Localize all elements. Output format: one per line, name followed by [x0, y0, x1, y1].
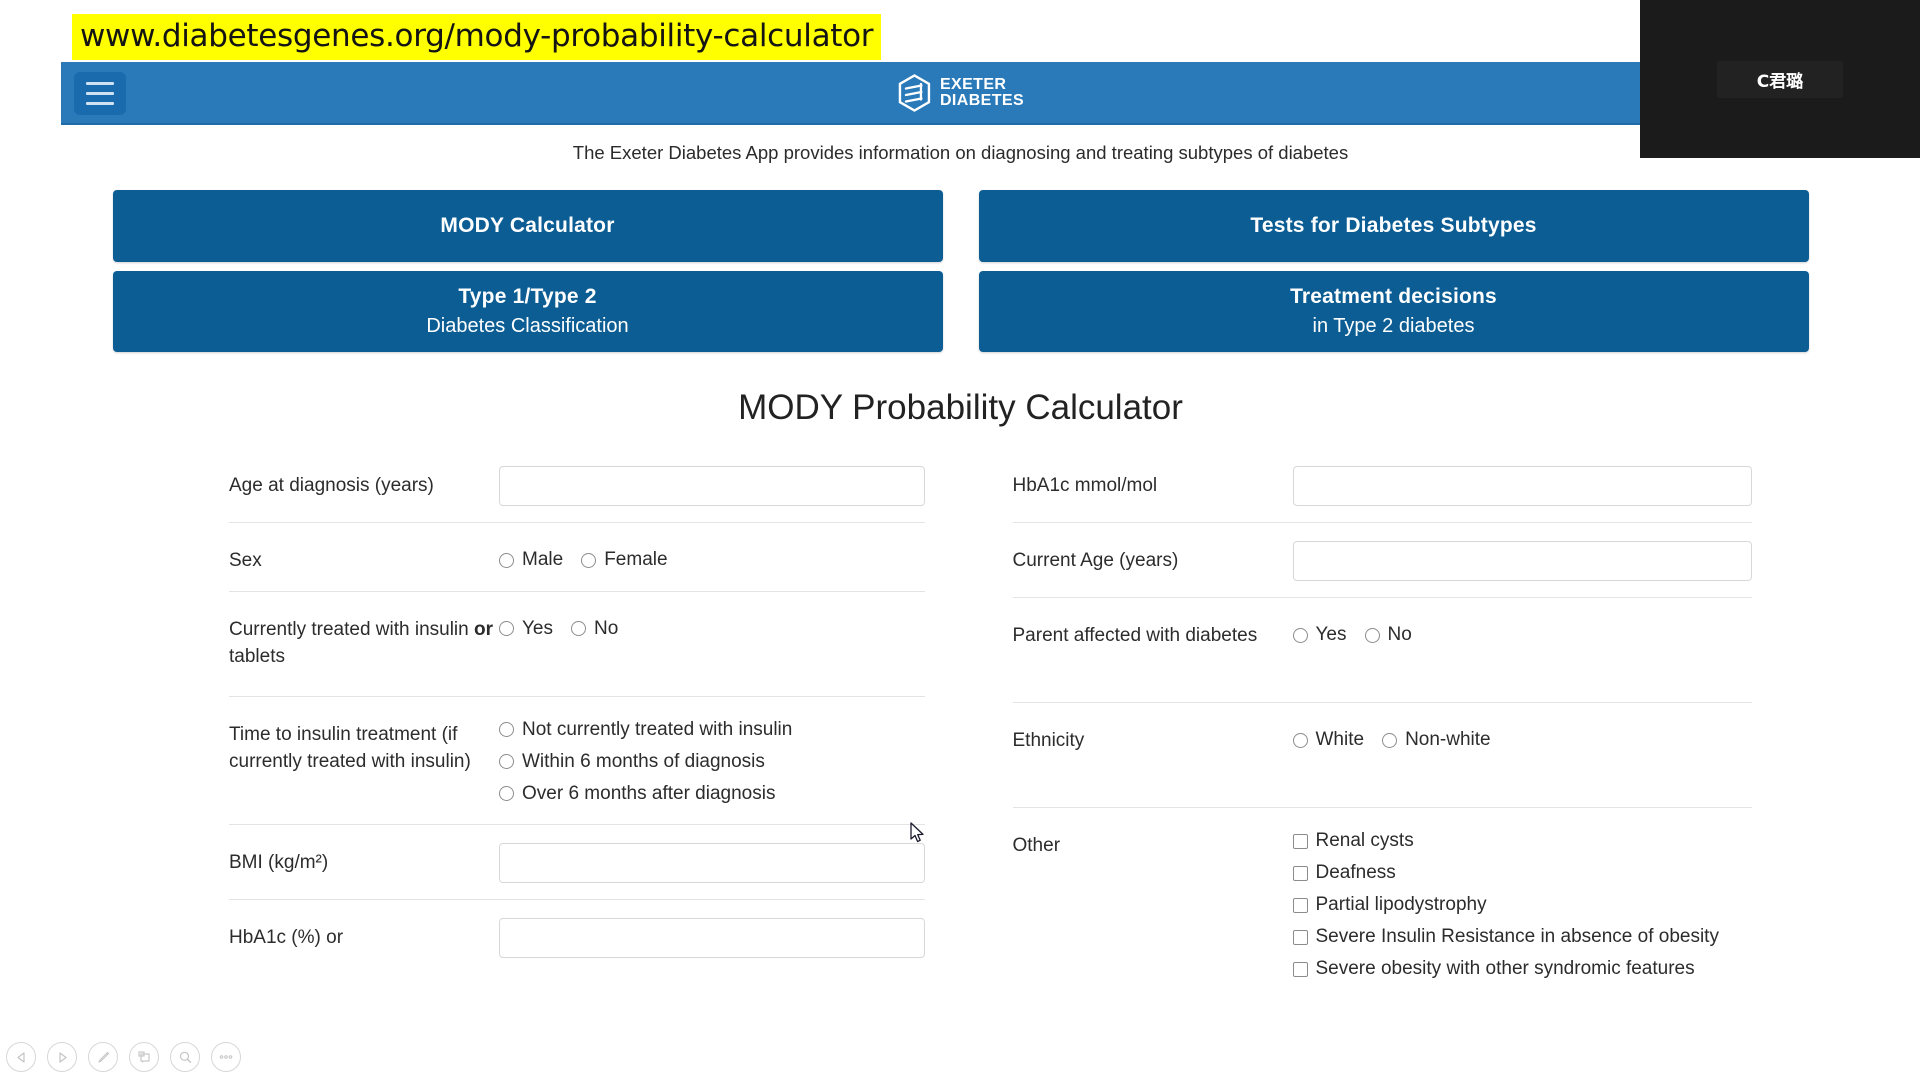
calculator-form: Age at diagnosis (years) Sex Male	[61, 448, 1860, 996]
currently-treated-radio-group: Yes No	[499, 610, 925, 640]
time-to-insulin-radio-group: Not currently treated with insulin Withi…	[499, 715, 925, 805]
hba1c-mmol-input[interactable]	[1293, 466, 1753, 506]
site-header: EXETER DIABETES	[61, 62, 1860, 125]
radio-label: Over 6 months after diagnosis	[522, 783, 775, 805]
checkbox-label: Severe Insulin Resistance in absence of …	[1316, 926, 1719, 948]
hamburger-menu-icon[interactable]	[74, 72, 126, 115]
radio-circle-icon	[499, 621, 514, 636]
checkbox-option-renal-cysts[interactable]: Renal cysts	[1293, 830, 1414, 852]
hba1c-percent-input[interactable]	[499, 918, 925, 958]
radio-option-white[interactable]: White	[1293, 729, 1365, 751]
radio-option-yes[interactable]: Yes	[1293, 624, 1347, 646]
radio-circle-icon	[499, 754, 514, 769]
field-current-age: Current Age (years)	[1013, 523, 1753, 598]
next-slide-icon[interactable]	[47, 1042, 77, 1072]
radio-circle-icon	[571, 621, 586, 636]
nav-button-type1-type2-classification[interactable]: Type 1/Type 2 Diabetes Classification	[113, 271, 943, 352]
field-ethnicity: Ethnicity White Non-white	[1013, 703, 1753, 808]
previous-slide-icon[interactable]	[6, 1042, 36, 1072]
field-label-suffix: tablets	[229, 646, 285, 667]
radio-label: Within 6 months of diagnosis	[522, 751, 765, 773]
hamburger-line	[86, 92, 114, 95]
hamburger-line	[86, 82, 114, 85]
web-page: EXETER DIABETES The Exeter Diabetes App …	[61, 62, 1860, 1080]
field-bmi: BMI (kg/m²)	[229, 825, 925, 900]
more-options-icon[interactable]	[211, 1042, 241, 1072]
field-label: Age at diagnosis (years)	[229, 464, 499, 500]
checkbox-option-deafness[interactable]: Deafness	[1293, 862, 1396, 884]
radio-circle-icon	[499, 786, 514, 801]
field-label: Other	[1013, 824, 1293, 860]
radio-option-non-white[interactable]: Non-white	[1382, 729, 1491, 751]
nav-button-subtitle: in Type 2 diabetes	[1313, 315, 1475, 338]
field-label: Time to insulin treatment (if currently …	[229, 713, 499, 776]
field-label: Sex	[229, 539, 499, 575]
site-tagline: The Exeter Diabetes App provides informa…	[61, 125, 1860, 164]
field-label-prefix: Currently treated with insulin	[229, 619, 474, 640]
checkbox-label: Deafness	[1316, 862, 1396, 884]
checkbox-label: Severe obesity with other syndromic feat…	[1316, 958, 1695, 980]
ethnicity-radio-group: White Non-white	[1293, 721, 1753, 751]
checkbox-option-severe-obesity-syndromic[interactable]: Severe obesity with other syndromic feat…	[1293, 958, 1695, 980]
nav-button-title: Treatment decisions	[1290, 285, 1497, 309]
form-column-right: HbA1c mmol/mol Current Age (years) Paren…	[961, 448, 1813, 996]
field-label: Ethnicity	[1013, 719, 1293, 755]
field-hba1c-percent: HbA1c (%) or	[229, 900, 925, 974]
nav-button-title: MODY Calculator	[440, 214, 614, 238]
nav-button-title: Type 1/Type 2	[458, 285, 596, 309]
nav-button-grid: MODY Calculator Tests for Diabetes Subty…	[61, 164, 1860, 352]
radio-label: Male	[522, 549, 563, 571]
radio-label: Female	[604, 549, 667, 571]
radio-circle-icon	[1293, 628, 1308, 643]
field-parent-affected: Parent affected with diabetes Yes No	[1013, 598, 1753, 703]
radio-option-within-6-months[interactable]: Within 6 months of diagnosis	[499, 751, 765, 773]
pen-annotate-icon[interactable]	[88, 1042, 118, 1072]
checkbox-square-icon	[1293, 898, 1308, 913]
checkbox-square-icon	[1293, 930, 1308, 945]
field-sex: Sex Male Female	[229, 523, 925, 592]
bmi-input[interactable]	[499, 843, 925, 883]
annotation-toolbar	[6, 1042, 241, 1072]
radio-circle-icon	[581, 553, 596, 568]
radio-label: No	[1388, 624, 1412, 646]
form-column-left: Age at diagnosis (years) Sex Male	[109, 448, 961, 996]
checkbox-square-icon	[1293, 866, 1308, 881]
participant-video-tile[interactable]: C君璐	[1640, 0, 1920, 158]
radio-option-male[interactable]: Male	[499, 549, 563, 571]
other-checkbox-group: Renal cysts Deafness Partial lipodystrop…	[1293, 826, 1753, 980]
field-currently-treated: Currently treated with insulin or tablet…	[229, 592, 925, 697]
exeter-hexagon-logo-icon	[897, 74, 931, 112]
nav-button-mody-calculator[interactable]: MODY Calculator	[113, 190, 943, 262]
screen-root: www.diabetesgenes.org/mody-probability-c…	[0, 0, 1920, 1080]
field-label: Parent affected with diabetes	[1013, 614, 1293, 650]
nav-button-treatment-decisions[interactable]: Treatment decisions in Type 2 diabetes	[979, 271, 1809, 352]
checkbox-label: Renal cysts	[1316, 830, 1414, 852]
checkbox-label: Partial lipodystrophy	[1316, 894, 1487, 916]
radio-label: Yes	[522, 618, 553, 640]
field-label: BMI (kg/m²)	[229, 841, 499, 877]
site-logo[interactable]: EXETER DIABETES	[897, 74, 1024, 112]
nav-button-tests-for-diabetes-subtypes[interactable]: Tests for Diabetes Subtypes	[979, 190, 1809, 262]
field-other: Other Renal cysts Deafness	[1013, 808, 1753, 996]
radio-circle-icon	[499, 722, 514, 737]
url-annotation: www.diabetesgenes.org/mody-probability-c…	[72, 14, 881, 60]
participant-name: C君璐	[1717, 61, 1843, 98]
checkbox-option-partial-lipodystrophy[interactable]: Partial lipodystrophy	[1293, 894, 1487, 916]
radio-option-female[interactable]: Female	[581, 549, 667, 571]
logo-line-1: EXETER	[940, 77, 1024, 92]
radio-circle-icon	[499, 553, 514, 568]
radio-option-not-currently-treated[interactable]: Not currently treated with insulin	[499, 719, 792, 741]
logo-text: EXETER DIABETES	[940, 77, 1024, 107]
radio-option-no[interactable]: No	[571, 618, 618, 640]
radio-circle-icon	[1365, 628, 1380, 643]
radio-circle-icon	[1382, 733, 1397, 748]
logo-line-2: DIABETES	[940, 93, 1024, 108]
field-time-to-insulin: Time to insulin treatment (if currently …	[229, 697, 925, 825]
parent-affected-radio-group: Yes No	[1293, 616, 1753, 646]
checkbox-square-icon	[1293, 962, 1308, 977]
checkbox-square-icon	[1293, 834, 1308, 849]
hamburger-line	[86, 102, 114, 105]
checkbox-option-severe-insulin-resistance[interactable]: Severe Insulin Resistance in absence of …	[1293, 926, 1719, 948]
radio-circle-icon	[1293, 733, 1308, 748]
current-age-input[interactable]	[1293, 541, 1753, 581]
field-label-bold: or	[474, 619, 493, 640]
radio-label: Not currently treated with insulin	[522, 719, 792, 741]
screen-share-icon[interactable]	[129, 1042, 159, 1072]
field-label: Currently treated with insulin or tablet…	[229, 608, 499, 671]
radio-option-over-6-months[interactable]: Over 6 months after diagnosis	[499, 783, 775, 805]
radio-label: No	[594, 618, 618, 640]
nav-button-subtitle: Diabetes Classification	[426, 315, 628, 338]
radio-option-yes[interactable]: Yes	[499, 618, 553, 640]
field-label: HbA1c (%) or	[229, 916, 499, 952]
magnifier-zoom-icon[interactable]	[170, 1042, 200, 1072]
field-label: Current Age (years)	[1013, 539, 1293, 575]
nav-button-title: Tests for Diabetes Subtypes	[1250, 214, 1536, 238]
radio-option-no[interactable]: No	[1365, 624, 1412, 646]
field-age-at-diagnosis: Age at diagnosis (years)	[229, 448, 925, 523]
age-at-diagnosis-input[interactable]	[499, 466, 925, 506]
page-title: MODY Probability Calculator	[61, 388, 1860, 428]
radio-label: Non-white	[1405, 729, 1491, 751]
field-hba1c-mmol: HbA1c mmol/mol	[1013, 448, 1753, 523]
field-label: HbA1c mmol/mol	[1013, 464, 1293, 500]
sex-radio-group: Male Female	[499, 541, 925, 571]
radio-label: White	[1316, 729, 1365, 751]
radio-label: Yes	[1316, 624, 1347, 646]
